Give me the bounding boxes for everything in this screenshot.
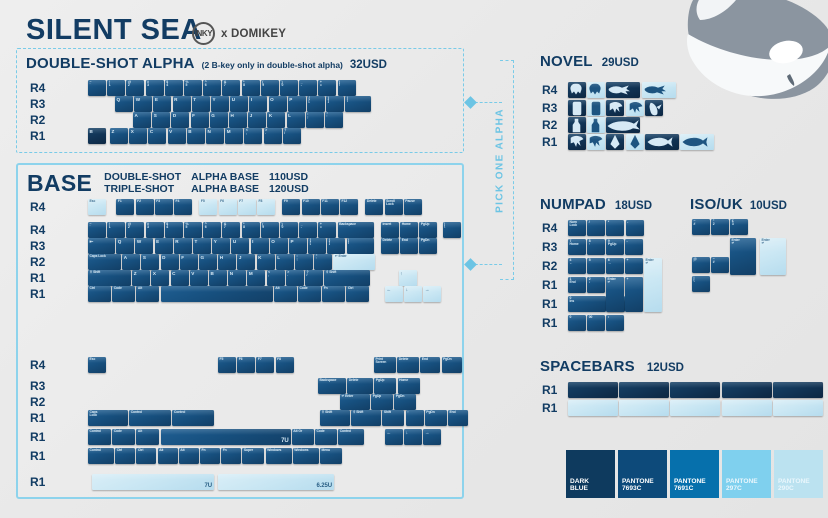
keycap[interactable]: !1 [107,80,125,96]
keycap-home[interactable]: D [161,254,179,270]
keycap-legend: End [422,358,440,362]
keycap-alpha[interactable]: R [174,238,192,254]
keycap-shift-row[interactable]: C [171,270,189,286]
keycap-home[interactable]: H [218,254,236,270]
keycap-legend: U [233,239,249,244]
keycap[interactable]: %5 [184,80,202,96]
keycap-alpha[interactable]: Delete [381,238,399,254]
keycap[interactable]: (9 [261,80,279,96]
keycap-legend: ⇧ Shift [353,411,381,415]
keycap-home[interactable]: L [276,254,294,270]
alpha-row-label-R1: R1 [30,129,45,143]
keycap-num[interactable]: Insert [381,222,399,238]
keycap-nav[interactable]: Backspace [318,378,346,394]
novel-keycap-bottle-icon[interactable] [587,117,605,133]
keycap-alpha[interactable]: |\ [347,238,374,254]
keycap-F2[interactable]: F2 [136,199,154,215]
iso-keycap[interactable]: ~# [692,219,710,235]
keycap[interactable]: T [192,96,210,112]
keycap-alpha[interactable]: Y [212,238,230,254]
keycap-mod[interactable]: Windows [293,448,319,464]
novel-keycap-manta-icon[interactable] [626,134,644,150]
keycap-shift-row[interactable]: ⇧ Shift [324,270,370,286]
keycap-shift-row[interactable]: M [247,270,265,286]
novel-keycap-squid-long-icon[interactable] [642,82,676,98]
keycap-legend: → [425,287,441,292]
keycap[interactable]: A [133,112,151,128]
keycap-ScrollLock[interactable]: ScrollLock [385,199,403,215]
numpad-keycap[interactable]: 8↑ [587,239,605,255]
keycap-legend: D [173,113,189,118]
keycap-mod[interactable]: Control [172,410,214,426]
keycap-home[interactable]: :; [295,254,313,270]
novel-keycap-whale-shark-icon[interactable] [606,117,640,133]
keycap-F8-alt[interactable]: F8 [276,357,294,373]
keycap-bottom[interactable]: Ctrl [346,286,369,302]
keycap-shift-row[interactable]: ↑ [399,270,417,286]
manta-icon [626,134,644,150]
keycap-Esc[interactable]: Esc [88,199,106,215]
spacebar-keycap[interactable] [670,400,720,416]
keycap-legend: $4 [166,223,182,231]
keycap[interactable]: F [191,112,209,128]
keycap-legend: 1End [570,278,586,286]
keycap-num[interactable]: @2 [126,222,144,238]
keycap-bottom[interactable]: Alt [136,286,159,302]
keycap[interactable]: ~` [88,80,106,96]
keycap[interactable]: E [153,96,171,112]
keycap-legend: ↑ [407,411,423,415]
keycap-num[interactable]: )0 [280,222,298,238]
keycap-legend: Z [134,271,150,276]
keycap-legend: → [425,430,441,435]
keycap-spacebar-625u[interactable]: 6.25U [218,474,334,490]
spacebar-keycap[interactable] [619,400,669,416]
keycap-mod[interactable]: Control [338,429,364,445]
keycap-spacebar-7u[interactable]: 7U [161,429,291,445]
keycap[interactable]: #3 [146,80,164,96]
keycap[interactable]: Y [211,96,229,112]
novel-keycap-dolphin-icon[interactable] [645,100,663,116]
keycap[interactable]: ^6 [203,80,221,96]
numpad-keycap[interactable]: 7Home [568,239,586,255]
keycap-legend: |\ [694,277,710,285]
base-row-label-top-1: R4 [30,223,45,237]
keycap-num[interactable]: $4 [165,222,183,238]
keycap-arrow[interactable]: ← [385,429,403,445]
keycap-mod[interactable]: Alt Gr [292,429,314,445]
numpad-keycap[interactable]: 00 [587,315,605,331]
keycap[interactable]: $4 [165,80,183,96]
keycap-legend: X [153,271,169,276]
keycap-legend: H [220,255,236,260]
keycap-F6[interactable]: F6 [219,199,237,215]
keycap-num[interactable]: (9 [261,222,279,238]
keycap[interactable]: |\ [345,96,371,112]
keycap[interactable]: N [206,128,224,144]
keycap-F4[interactable]: F4 [174,199,192,215]
novel-keycap-jellyfish-small-icon[interactable] [568,134,586,150]
keycap[interactable]: {[ [307,96,325,112]
keycap-legend: Esc [90,358,106,362]
keycap-legend: += [320,223,336,231]
keycap[interactable]: H [229,112,247,128]
keycap-num[interactable]: %5 [184,222,202,238]
iso-keycap[interactable]: "2 [711,219,729,235]
keycap-alpha[interactable]: PgDn [419,238,437,254]
keycap-nav[interactable]: ↵ Enter [340,394,370,410]
keycap-F6-alt[interactable]: F6 [237,357,255,373]
keycap-F7-alt[interactable]: F7 [256,357,274,373]
keycap[interactable]: <, [244,128,262,144]
numpad-keycap[interactable]: 1End [568,277,586,293]
novel-keycap-jellyfish-small-icon[interactable] [587,134,605,150]
keycap-alpha[interactable]: E [155,238,173,254]
keycap[interactable]: V [168,128,186,144]
keycap-F12[interactable]: F12 [340,199,358,215]
keycap[interactable]: C [148,128,166,144]
numpad-keycap[interactable]: / [587,220,605,236]
base-row-label-bot-3: R1 [30,411,45,425]
keycap[interactable]: K [267,112,285,128]
keycap-num[interactable]: += [318,222,336,238]
keycap-legend: Menu [322,449,342,453]
keycap-legend: ⇧ Shift [90,271,131,275]
keycap-legend: Alt [159,449,177,453]
keycap-mod[interactable]: Alt [179,448,199,464]
keycap-home[interactable]: J [237,254,255,270]
iso-keycap[interactable]: @' [692,257,710,273]
keycap-mod[interactable]: Alt [158,448,178,464]
keycap-Pause[interactable]: Pause [404,199,422,215]
keycap[interactable]: X [129,128,147,144]
keycap-nav[interactable]: PgDn [394,394,416,410]
keycap-legend: PgUp [373,395,393,399]
keycap[interactable]: D [171,112,189,128]
spacebar-keycap[interactable] [773,382,823,398]
keycap-F5[interactable]: F5 [199,199,217,215]
numpad-keycap[interactable]: * [606,220,624,236]
keycap[interactable]: :; [306,112,324,128]
keycap-alpha[interactable]: I [251,238,269,254]
keycap[interactable]: R [173,96,191,112]
keycap-F9[interactable]: F9 [282,199,300,215]
keycap-mod[interactable]: Code [315,429,337,445]
keycap-shift-row[interactable]: N [228,270,246,286]
keycap-num[interactable]: *8 [242,222,260,238]
keycap[interactable]: ?/ [283,128,301,144]
keycap-mod[interactable]: Ctrl [136,448,156,464]
novel-keycap-fish-icon[interactable] [645,134,679,150]
keycap-legend: Ctrl [90,287,111,291]
keycap-num[interactable]: #3 [146,222,164,238]
numpad-keycap-enter-light[interactable]: Enter↵ [644,258,662,312]
numpad-keycap[interactable]: 0 [568,315,586,331]
keycap-alpha[interactable]: {[ [308,238,326,254]
keycap-home[interactable]: F [180,254,198,270]
keycap-nav[interactable]: PgDn [442,357,462,373]
jellyfish-icon [626,100,644,116]
keycap-shift-row[interactable]: B [209,270,227,286]
keycap[interactable]: O [269,96,287,112]
keycap-nav[interactable]: PgUp [374,378,396,394]
keycap-mod[interactable]: Alt [136,429,159,445]
keycap[interactable]: I [249,96,267,112]
keycap[interactable]: += [318,80,336,96]
keycap-legend: Shift [384,411,404,415]
keycap-mod[interactable]: Shift [382,410,404,426]
keycap-num[interactable]: ^6 [203,222,221,238]
keycap-num[interactable]: |\ [443,222,461,238]
keycap-alpha[interactable]: O [270,238,288,254]
keycap-F11[interactable]: F11 [321,199,339,215]
numpad-keycap[interactable]: 4← [568,258,586,274]
spacebars-kit-price: 12USD [647,362,684,374]
keycap-legend: F1 [118,200,134,204]
keycap-num[interactable]: &7 [222,222,240,238]
keycap-home[interactable]: A [122,254,140,270]
keycap-mod[interactable]: ⇧ Shift [320,410,350,426]
keycap[interactable]: &7 [222,80,240,96]
keycap-arrow[interactable]: ↓ [404,429,422,445]
keycap-mod[interactable]: Control [88,429,111,445]
keycap-F7[interactable]: F7 [238,199,256,215]
iso-keycap[interactable]: £3 [730,219,748,235]
numpad-keycap[interactable]: 6→ [606,258,624,274]
keycap-alpha[interactable]: W [135,238,153,254]
keycap[interactable]: S [152,112,170,128]
spacebar-row-label-1: R1 [542,401,557,415]
keycap-nav[interactable]: PrintScreen [374,357,396,373]
spacebars-kit-header: SPACEBARS 12USD [540,358,684,375]
keycap-legend: Code [114,430,135,434]
keycap-mod[interactable]: Fn [200,448,220,464]
novel-keycap-squid-icon[interactable] [587,82,605,98]
keycap[interactable]: |\ [338,80,356,96]
keycap-home[interactable]: K [257,254,275,270]
keycap-bottom[interactable]: Code [298,286,321,302]
keycap-alpha[interactable]: End [400,238,418,254]
numpad-row-label-0: R4 [542,221,557,235]
keycap-shift-row[interactable]: >. [286,270,304,286]
keycap[interactable]: "' [325,112,343,128]
keycap-legend: Caps Lock [90,255,121,259]
keycap-F5-alt[interactable]: F5 [218,357,236,373]
numpad-keycap-plus[interactable]: + [625,258,643,274]
novel-keycap-can-icon[interactable] [587,100,605,116]
keycap-legend: B [211,271,227,276]
numpad-keycap[interactable]: - [626,220,644,236]
novel-row-label-R2: R2 [542,118,557,132]
keycap[interactable]: W [134,96,152,112]
keycap[interactable]: @2 [126,80,144,96]
keycap-legend: "' [316,255,332,263]
keycap-nav[interactable]: Delete [397,357,419,373]
keycap-alpha[interactable]: }] [327,238,345,254]
keycap[interactable]: M [225,128,243,144]
novel-keycap-bottle-icon[interactable] [568,117,586,133]
keycap-spacebar-7u-light[interactable]: 7U [92,474,214,490]
keycap-alpha[interactable]: U [231,238,249,254]
keycap-mod[interactable]: End [448,410,468,426]
keycap-mod[interactable]: ⇧ Shift [351,410,381,426]
novel-keycap-can-icon[interactable] [568,100,586,116]
keycap-esc-alt[interactable]: Esc [88,357,106,373]
keycap-num[interactable]: _- [299,222,317,238]
novel-keycap-fish-icon[interactable] [680,134,714,150]
iso-enter-light[interactable]: Enter↵ [760,238,786,275]
keycap-legend: PgDn [396,395,416,399]
numpad-keycap[interactable]: NumLock [568,220,586,236]
keycap-bottom[interactable]: Code [112,286,135,302]
keycap-legend: @2 [128,223,144,231]
keycap-alpha[interactable]: T [193,238,211,254]
keycap[interactable]: *8 [242,80,260,96]
numpad-keycap[interactable]: 0Ins [568,296,606,312]
keycap-mod[interactable]: Control [129,410,171,426]
keycap-legend: / [589,221,605,225]
keycap-legend: &7 [224,81,240,89]
keycap-arrow-down[interactable]: ↓ [404,286,422,302]
keycap-legend: ⇧ Shift [322,411,350,415]
keycap-bottom[interactable]: Ctrl [88,286,111,302]
keycap-bottom[interactable]: Alt [274,286,297,302]
keycap-legend: <, [246,129,262,137]
keycap-legend: ← [387,430,403,435]
keycap[interactable]: B [187,128,205,144]
keycap-legend: P [291,239,307,244]
keycap-arrow-left[interactable]: ← [385,286,403,302]
keycap-nav[interactable]: PgUp [371,394,393,410]
keycap-legend: I [252,239,268,244]
novel-keycap-jellyfish-icon[interactable] [606,100,624,116]
keycap[interactable]: }] [326,96,344,112]
keycap-num[interactable]: PgUp [419,222,437,238]
numpad-keycap-minus[interactable]: - [625,239,643,255]
keycap-mod[interactable]: ↑ [406,410,424,426]
keycap-alpha[interactable]: ⇤ [88,238,115,254]
keycap[interactable]: >. [264,128,282,144]
keycap-home[interactable]: S [141,254,159,270]
keycap-shift-row[interactable]: Z [132,270,150,286]
keycap-mod[interactable]: Control [88,448,114,464]
keycap-alpha[interactable]: P [289,238,307,254]
keycap-home[interactable]: G [199,254,217,270]
keycap-nav[interactable]: Delete [347,378,373,394]
novel-keycap-squid-long-icon[interactable] [606,82,640,98]
keycap-arrow[interactable]: → [423,429,441,445]
keycap[interactable]: P [288,96,306,112]
keycap-Delete[interactable]: Delete [365,199,383,215]
novel-keycap-jellyfish-icon[interactable] [626,100,644,116]
keycap[interactable]: Z [110,128,128,144]
keycap-mod[interactable]: Ctrl [115,448,135,464]
dolphin-icon [645,100,663,116]
keycap-legend: ?/ [307,271,323,279]
spacebar-keycap[interactable] [568,400,618,416]
jellyfish-small-icon [568,134,586,150]
keycap-legend: PgDn [426,411,446,415]
keycap-nav[interactable]: Home [398,378,420,394]
keycap-b-alt[interactable]: B [88,128,106,144]
keycap-F1[interactable]: F1 [116,199,134,215]
keycap-alpha[interactable]: Q [116,238,134,254]
spacebars-kit-title: SPACEBARS [540,358,635,375]
spacebar-keycap[interactable] [568,382,618,398]
keycap-shift-row[interactable]: ?/ [305,270,323,286]
keycap-num[interactable]: Home [400,222,418,238]
spacebar-keycap[interactable] [773,400,823,416]
keycap[interactable]: U [230,96,248,112]
base-row-label-bot-4: R1 [30,430,45,444]
keycap-shift-row[interactable]: X [151,270,169,286]
keycap-mod[interactable]: Code [112,429,135,445]
numpad-keycap[interactable]: 2↓ [587,277,605,293]
keycap-mod[interactable]: Windows [266,448,292,464]
keycap-num[interactable]: ~` [88,222,106,238]
keycap-legend: ← [387,287,403,292]
keycap-mod[interactable]: Super [242,448,264,464]
keycap-mod[interactable]: Menu [320,448,342,464]
iso-keycap[interactable]: ~# [711,257,729,273]
keycap-mod[interactable]: PgDn [425,410,447,426]
keycap-home[interactable]: "' [314,254,332,270]
keycap-bottom[interactable]: Fn [322,286,345,302]
keycap-shift-row[interactable]: V [190,270,208,286]
numpad-keycap-enter-dark[interactable]: Enter↵ [606,277,624,312]
keycap-shift-row[interactable]: <, [267,270,285,286]
keycap-legend: PgUp [376,379,396,383]
keycap-legend: 8↑ [589,240,605,248]
numpad-keycap[interactable]: 9PgUp [606,239,624,255]
keycap[interactable]: L [287,112,305,128]
keycap-home[interactable]: ↵ Enter [333,254,375,270]
numpad-keycap-plus-tall[interactable]: + [625,277,643,312]
keycap-F3[interactable]: F3 [155,199,173,215]
novel-keycap-squid-icon[interactable] [568,82,586,98]
keycap-num[interactable]: Backspace [338,222,374,238]
iso-keycap-backslash[interactable]: |\ [692,276,710,292]
keycap[interactable]: Q [115,96,133,112]
keycap-F8[interactable]: F8 [257,199,275,215]
keycap[interactable]: )0 [280,80,298,96]
iso-enter-dark[interactable]: Enter↵ [730,238,756,275]
keycap[interactable]: G [210,112,228,128]
keycap-bottom[interactable] [161,286,273,302]
keycap-arrow-right[interactable]: → [423,286,441,302]
keycap[interactable]: J [248,112,266,128]
keycap-num[interactable]: !1 [107,222,125,238]
spacebar-keycap[interactable] [619,382,669,398]
spacebar-keycap[interactable] [670,382,720,398]
keycap-legend: Z [112,129,128,134]
keycap-legend: ?/ [284,129,300,137]
keycap-F10[interactable]: F10 [302,199,320,215]
numpad-keycap[interactable]: • [606,315,624,331]
keycap-mod[interactable]: CapsLock [88,410,128,426]
keycap-shift-row[interactable]: ⇧ Shift [88,270,131,286]
keycap-legend: !1 [109,223,125,231]
spacebar-keycap[interactable] [722,382,772,398]
numpad-kit-price: 18USD [615,200,652,212]
numpad-keycap[interactable]: 5 [587,258,605,274]
keycap-mod[interactable]: Fn [221,448,241,464]
keycap-nav[interactable]: End [420,357,440,373]
keycap-home[interactable]: Caps Lock [88,254,121,270]
novel-keycap-manta-icon[interactable] [606,134,624,150]
spacebar-keycap[interactable] [722,400,772,416]
keycap[interactable]: _- [299,80,317,96]
